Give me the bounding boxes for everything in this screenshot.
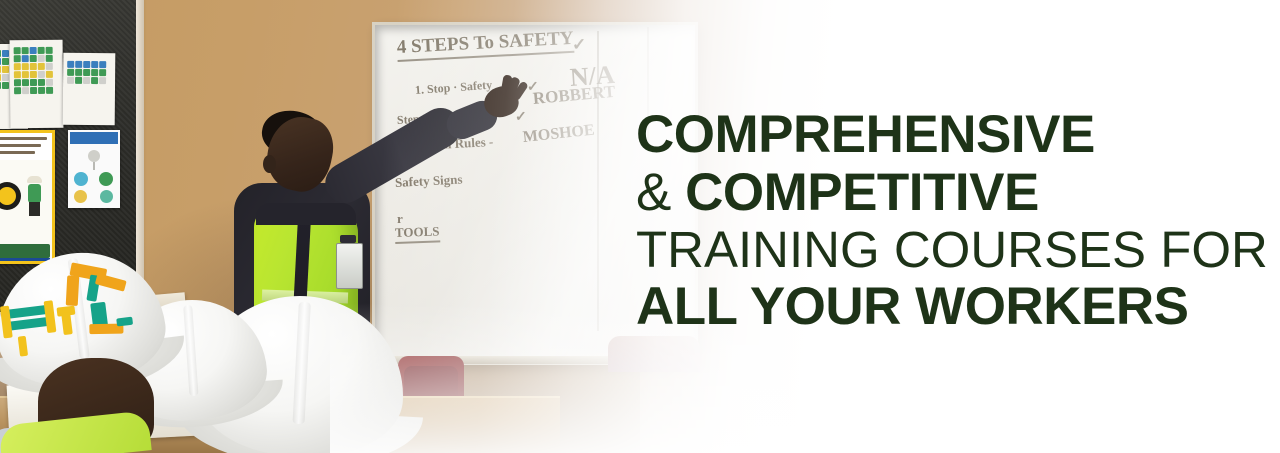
id-badge (336, 243, 363, 289)
flow-link-1 (93, 162, 95, 170)
whiteboard-note-6: ROBBERT (532, 82, 616, 109)
headline-line-2: & COMPETITIVE (636, 166, 1236, 219)
flow-node-top (88, 150, 100, 162)
whiteboard-note-1: 4 STEPS To SAFETY (396, 28, 574, 62)
id-badge-clip (340, 235, 356, 243)
pictogram-grid-3 (67, 61, 106, 84)
headline-line-3: TRAINING COURSES FOR (636, 224, 1236, 275)
flow-node-bottom-left (74, 190, 87, 203)
whiteboard-note-4: 1. Stop · Safety (414, 78, 492, 98)
instructor-collar (256, 203, 356, 225)
training-courses-banner: 4 STEPS To SAFETY✓N/A1. Stop · Safety✓RO… (0, 0, 1280, 453)
flow-node-right (99, 172, 113, 186)
headline-line-4: ALL YOUR WORKERS (636, 280, 1236, 333)
headline-block: COMPREHENSIVE & COMPETITIVE TRAINING COU… (636, 108, 1236, 333)
headline-line-1: COMPREHENSIVE (636, 108, 1236, 161)
safety-poster-2 (10, 40, 64, 129)
safety-poster-3 (63, 53, 116, 125)
headline-line-2-bold: COMPETITIVE (685, 163, 1039, 222)
whiteboard-note-8: ✓ (515, 109, 527, 126)
safety-poster-first-choice (0, 130, 55, 264)
poster-blue-header (70, 132, 118, 144)
whiteboard-note-10: MOSHOE (522, 122, 596, 147)
pictogram-grid-2 (14, 47, 53, 94)
whiteboard-note-2: ✓ (572, 35, 586, 55)
flow-node-left (74, 172, 88, 186)
grey-hard-hat-top (608, 336, 700, 372)
safety-poster-flowchart (68, 130, 120, 208)
decal-orange-2 (66, 275, 80, 306)
instructor-ear (263, 155, 276, 173)
flow-node-bottom-right (100, 190, 113, 203)
poster-yellow-border (0, 130, 55, 264)
headline-ampersand: & (636, 163, 685, 222)
